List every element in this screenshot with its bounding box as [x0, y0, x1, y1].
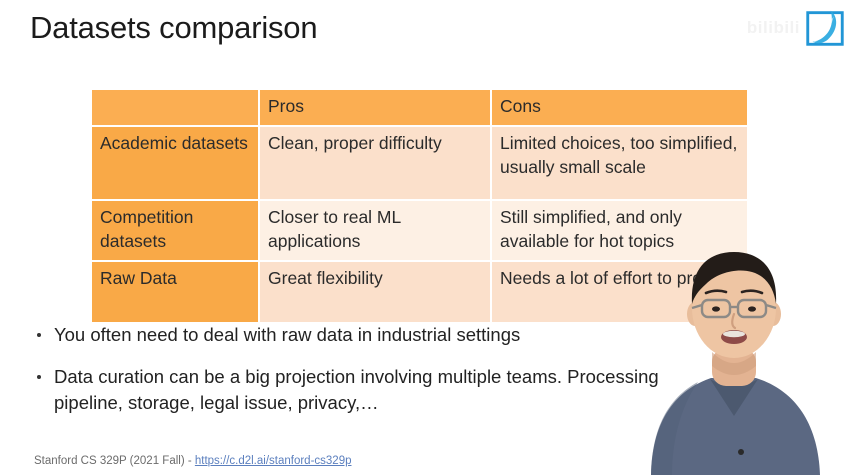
table-header-row: Pros Cons: [92, 90, 747, 125]
table-cell-pros: Closer to real ML applications: [260, 201, 490, 260]
table-row: Competition datasets Closer to real ML a…: [92, 201, 747, 260]
bilibili-logo-icon: [802, 5, 848, 51]
table-cell-cons: Still simplified, and only available for…: [492, 201, 747, 260]
footer-course-link[interactable]: https://c.d2l.ai/stanford-cs329p: [195, 455, 352, 467]
brand-wordmark-text: bilibili: [747, 18, 800, 38]
table-cell-pros: Great flexibility: [260, 262, 490, 322]
brand-watermark: bilibili: [718, 2, 848, 54]
table-header-pros: Pros: [260, 90, 490, 125]
table-cell-pros: Clean, proper difficulty: [260, 127, 490, 199]
list-item: You often need to deal with raw data in …: [32, 322, 682, 348]
table-row: Raw Data Great flexibility Needs a lot o…: [92, 262, 747, 322]
slide-canvas: Datasets comparison bilibili Pros Cons A…: [0, 0, 856, 475]
table-row-label: Competition datasets: [92, 201, 258, 260]
page-title: Datasets comparison: [30, 8, 317, 48]
footer-course-text: Stanford CS 329P (2021 Fall) -: [34, 455, 195, 467]
slide-footer: Stanford CS 329P (2021 Fall) - https://c…: [34, 455, 352, 467]
table-row-label: Raw Data: [92, 262, 258, 322]
table-header-blank: [92, 90, 258, 125]
list-item: Data curation can be a big projection in…: [32, 364, 682, 416]
datasets-comparison-table: Pros Cons Academic datasets Clean, prope…: [90, 88, 749, 324]
table-header-cons: Cons: [492, 90, 747, 125]
bullet-list: You often need to deal with raw data in …: [32, 322, 682, 432]
table-row-label: Academic datasets: [92, 127, 258, 199]
table-row: Academic datasets Clean, proper difficul…: [92, 127, 747, 199]
table-cell-cons: Needs a lot of effort to process: [492, 262, 747, 322]
table-cell-cons: Limited choices, too simplified, usually…: [492, 127, 747, 199]
